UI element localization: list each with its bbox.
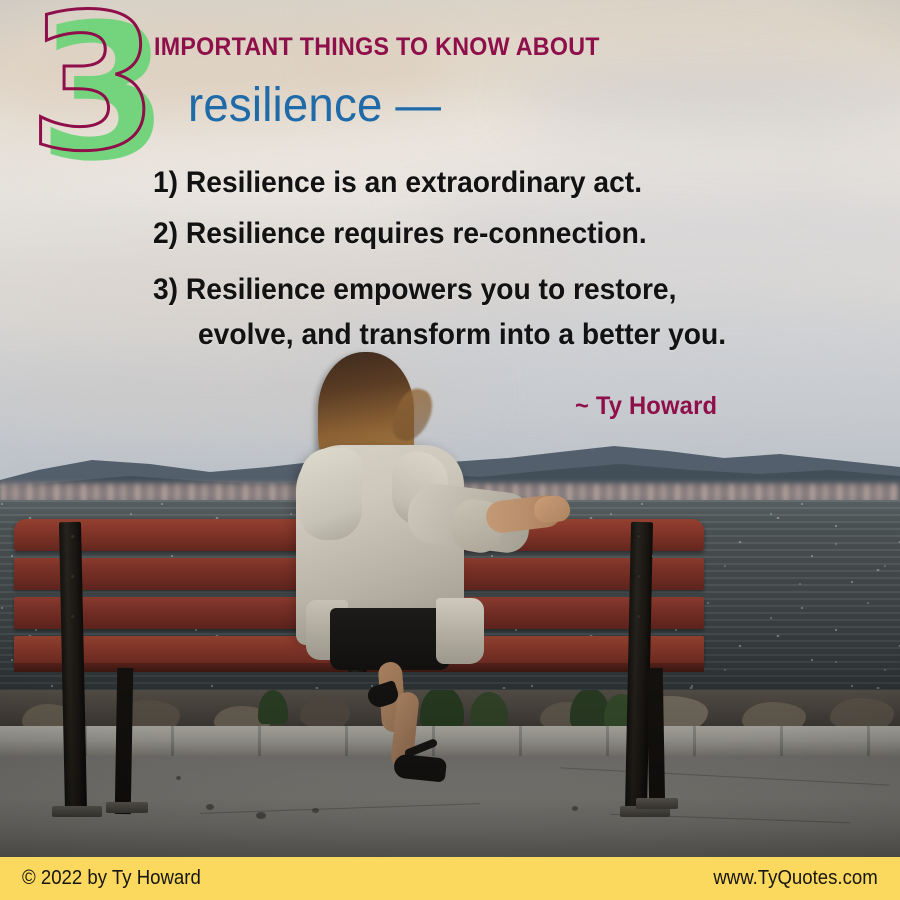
footer-bar: © 2022 by Ty Howard www.TyQuotes.com [0,857,900,900]
number-badge: 3 3 [24,14,174,184]
headline-topic: resilience — [188,78,441,133]
attribution: ~ Ty Howard [575,392,717,421]
headline-kicker: IMPORTANT THINGS TO KNOW ABOUT [154,33,600,62]
text-overlay: 3 3 IMPORTANT THINGS TO KNOW ABOUT resil… [0,0,900,857]
copyright-text: © 2022 by Ty Howard [22,867,201,890]
quote-poster: 3 3 IMPORTANT THINGS TO KNOW ABOUT resil… [0,0,900,900]
number-badge-outline: 3 [28,0,157,178]
list-item: 3) Resilience empowers you to restore, [153,267,676,313]
list-item-continuation: evolve, and transform into a better you. [198,312,726,358]
list-item: 2) Resilience requires re-connection. [153,211,647,257]
website-link[interactable]: www.TyQuotes.com [714,867,878,890]
list-item: 1) Resilience is an extraordinary act. [153,160,642,206]
